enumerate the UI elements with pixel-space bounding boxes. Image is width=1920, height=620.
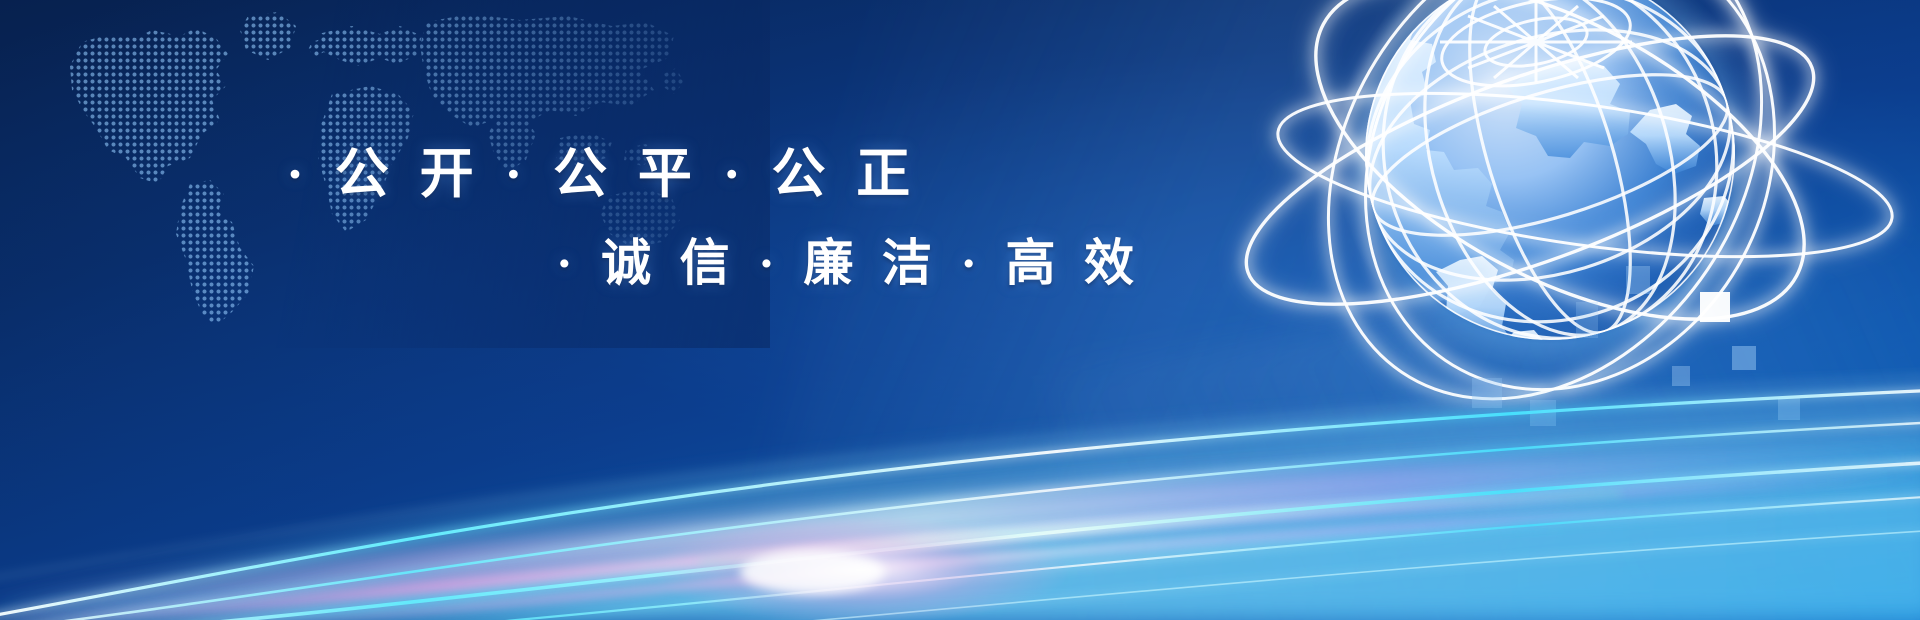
promotional-banner: · 公 开 · 公 平 · 公 正 · 诚 信 · 廉 洁 · 高 效	[0, 0, 1920, 620]
slogan-line-1: · 公 开 · 公 平 · 公 正	[286, 147, 919, 201]
slogan-line-2: · 诚 信 · 廉 洁 · 高 效	[556, 238, 1142, 288]
slogan-group: · 公 开 · 公 平 · 公 正 · 诚 信 · 廉 洁 · 高 效	[0, 0, 1920, 620]
